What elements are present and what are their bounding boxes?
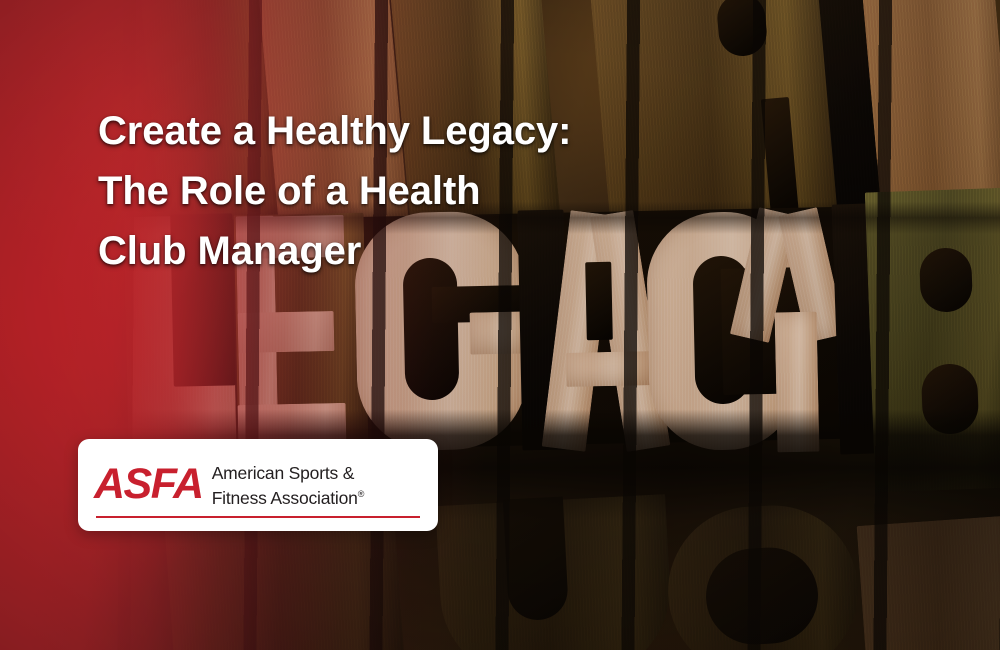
asfa-logo-card[interactable]: ASFA American Sports & Fitness Associati… — [78, 439, 438, 531]
asfa-logo-text-line-1: American Sports & — [212, 463, 364, 484]
registered-trademark-icon: ® — [358, 489, 364, 499]
asfa-wordmark: ASFA — [94, 461, 203, 506]
red-gradient-glow — [0, 0, 1000, 650]
blog-hero-banner: Create a Healthy Legacy: The Role of a H… — [0, 0, 1000, 650]
headline-line-3: Club Manager — [98, 221, 718, 281]
asfa-logo-text-line-2: Fitness Association® — [212, 484, 364, 509]
asfa-logo: ASFA American Sports & Fitness Associati… — [94, 461, 422, 509]
asfa-logo-text: American Sports & Fitness Association® — [212, 461, 364, 509]
headline-line-2: The Role of a Health — [98, 161, 718, 221]
asfa-logo-text-line-2-main: Fitness Association — [212, 488, 358, 508]
headline-line-1: Create a Healthy Legacy: — [98, 101, 718, 161]
asfa-logo-underline — [96, 516, 420, 518]
banner-headline: Create a Healthy Legacy: The Role of a H… — [98, 101, 718, 281]
